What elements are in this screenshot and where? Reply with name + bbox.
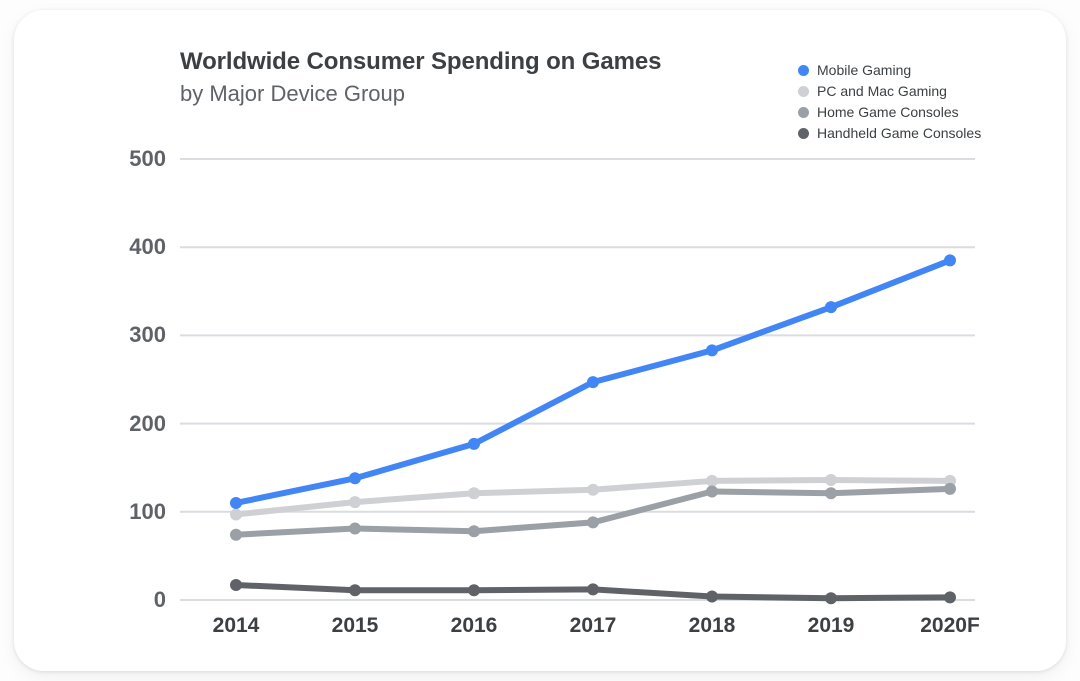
y-axis-tick-label: 0 [88,587,166,613]
data-point-marker[interactable] [706,344,718,356]
data-point-marker[interactable] [706,590,718,602]
x-axis-tick-label: 2020F [920,614,980,638]
data-point-marker[interactable] [587,583,599,595]
data-point-marker[interactable] [587,484,599,496]
data-point-marker[interactable] [587,376,599,388]
y-axis-tick-label: 300 [88,322,166,348]
data-point-marker[interactable] [230,508,242,520]
x-axis-tick-label: 2016 [451,614,498,638]
data-point-marker[interactable] [825,474,837,486]
x-axis-tick-label: 2017 [570,614,617,638]
data-point-marker[interactable] [230,579,242,591]
data-point-marker[interactable] [468,487,480,499]
data-point-marker[interactable] [706,475,718,487]
chart-plot-area: 0100200300400500201420152016201720182019… [14,10,1066,671]
data-point-marker[interactable] [706,486,718,498]
y-axis-tick-label: 100 [88,499,166,525]
x-axis-tick-label: 2014 [213,614,260,638]
data-point-marker[interactable] [944,483,956,495]
chart-card: Worldwide Consumer Spending on Games by … [14,10,1066,671]
y-axis-tick-label: 500 [88,146,166,172]
data-point-marker[interactable] [349,472,361,484]
data-point-marker[interactable] [944,591,956,603]
data-point-marker[interactable] [587,516,599,528]
data-point-marker[interactable] [349,496,361,508]
data-point-marker[interactable] [825,592,837,604]
data-point-marker[interactable] [349,523,361,535]
data-point-marker[interactable] [944,254,956,266]
data-point-marker[interactable] [468,438,480,450]
chart-canvas [14,10,1066,671]
x-axis-tick-label: 2019 [808,614,855,638]
data-point-marker[interactable] [825,301,837,313]
y-axis-tick-label: 400 [88,234,166,260]
data-point-marker[interactable] [349,584,361,596]
data-point-marker[interactable] [468,525,480,537]
x-axis-tick-label: 2018 [689,614,736,638]
page-background: Worldwide Consumer Spending on Games by … [0,0,1080,681]
data-point-marker[interactable] [230,529,242,541]
x-axis-tick-label: 2015 [332,614,379,638]
data-point-marker[interactable] [825,487,837,499]
y-axis-tick-label: 200 [88,411,166,437]
data-point-marker[interactable] [230,497,242,509]
data-point-marker[interactable] [468,584,480,596]
